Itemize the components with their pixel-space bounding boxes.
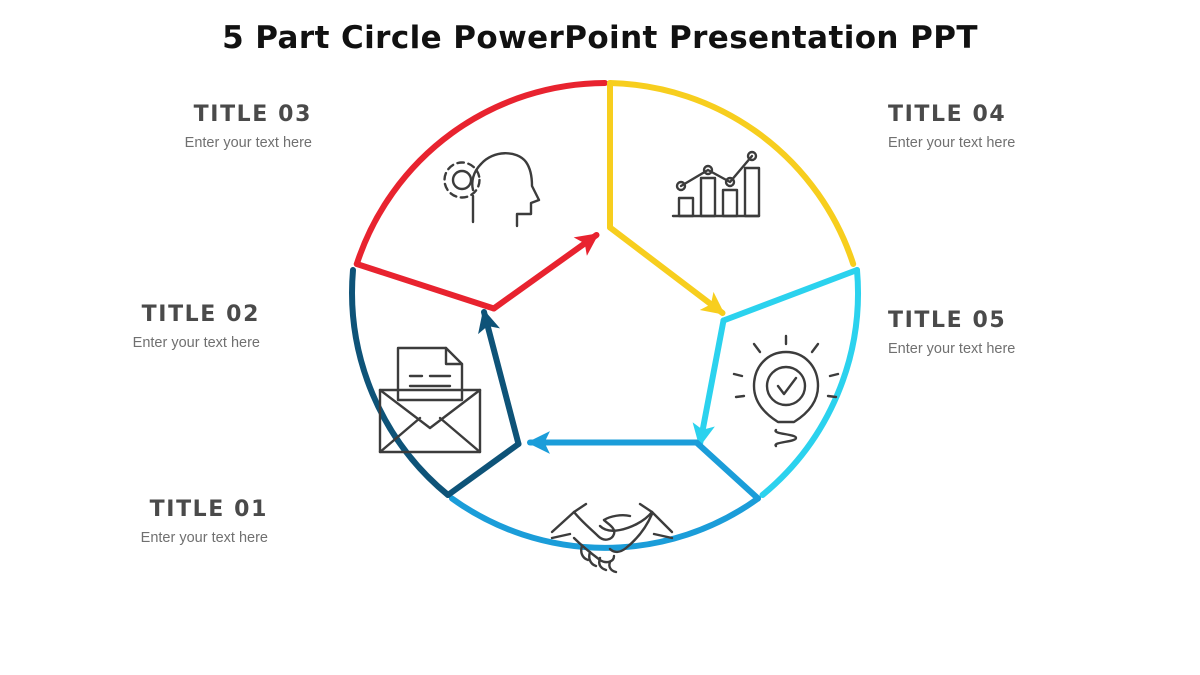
segment-cyan[interactable] xyxy=(700,270,858,495)
head-gear-icon xyxy=(445,153,540,226)
label-title-05: TITLE 05 xyxy=(888,308,1188,333)
segment-yellow-arc xyxy=(610,83,853,264)
label-subtitle-04: Enter your text here xyxy=(888,135,1188,151)
segment-red-arrow xyxy=(494,235,597,309)
segment-blue-arc xyxy=(452,499,758,548)
label-block-title-01[interactable]: TITLE 01 Enter your text here xyxy=(0,497,268,546)
segment-navy[interactable] xyxy=(352,270,518,495)
segment-cyan-arc xyxy=(763,270,858,495)
label-title-04: TITLE 04 xyxy=(888,102,1188,127)
cycle-diagram xyxy=(330,52,890,642)
segment-yellow-arrow xyxy=(610,228,723,314)
segment-cyan-inner-edge xyxy=(724,270,858,321)
page-title: 5 Part Circle PowerPoint Presentation PP… xyxy=(0,20,1200,56)
cycle-diagram-svg xyxy=(330,52,890,642)
segment-navy-inner-edge xyxy=(448,444,519,495)
label-block-title-04[interactable]: TITLE 04 Enter your text here xyxy=(888,102,1188,151)
label-subtitle-03: Enter your text here xyxy=(12,135,312,151)
segment-navy-arc xyxy=(352,270,448,495)
label-title-02: TITLE 02 xyxy=(0,302,260,327)
segment-blue-inner-edge xyxy=(697,443,759,499)
segment-navy-arrow xyxy=(484,312,519,444)
segment-red[interactable] xyxy=(357,83,605,309)
segment-cyan-arrow xyxy=(700,321,724,445)
label-subtitle-05: Enter your text here xyxy=(888,341,1188,357)
label-title-03: TITLE 03 xyxy=(12,102,312,127)
label-subtitle-01: Enter your text here xyxy=(0,530,268,546)
segment-red-arc xyxy=(357,83,605,264)
label-block-title-05[interactable]: TITLE 05 Enter your text here xyxy=(888,308,1188,357)
label-block-title-03[interactable]: TITLE 03 Enter your text here xyxy=(12,102,312,151)
label-subtitle-02: Enter your text here xyxy=(0,335,260,351)
segment-yellow[interactable] xyxy=(610,83,853,313)
label-title-01: TITLE 01 xyxy=(0,497,268,522)
segment-red-inner-edge xyxy=(357,264,494,309)
handshake-icon xyxy=(552,504,672,572)
label-block-title-02[interactable]: TITLE 02 Enter your text here xyxy=(0,302,260,351)
slide-canvas: 5 Part Circle PowerPoint Presentation PP… xyxy=(0,0,1200,675)
bar-chart-growth-icon xyxy=(673,152,759,216)
